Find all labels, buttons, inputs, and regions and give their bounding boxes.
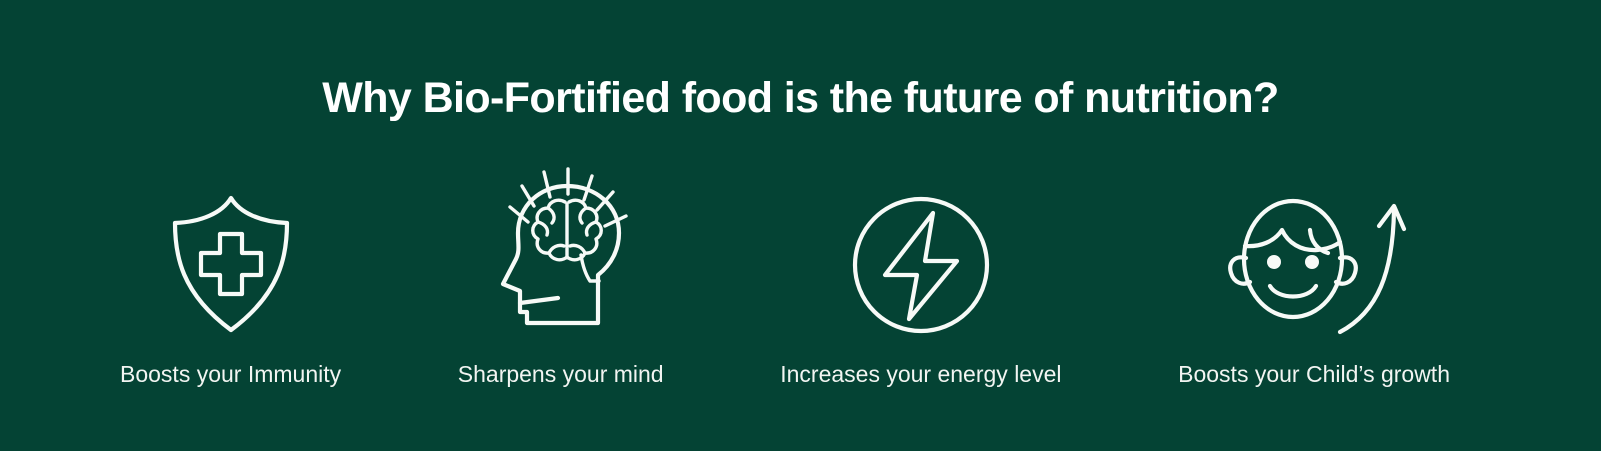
feature-label: Boosts your Immunity <box>120 360 341 388</box>
bio-fortified-benefits-banner: Why Bio-Fortified food is the future of … <box>0 0 1601 451</box>
feature-item-mind: Sharpens your mind <box>458 160 664 388</box>
feature-label: Boosts your Child’s growth <box>1178 360 1450 388</box>
feature-item-energy: Increases your energy level <box>780 160 1061 388</box>
feature-label: Sharpens your mind <box>458 360 664 388</box>
feature-item-child-growth: Boosts your Child’s growth <box>1178 160 1450 388</box>
lightning-bolt-circle-icon <box>851 160 991 335</box>
feature-list: Boosts your Immunity <box>120 160 1450 388</box>
page-title: Why Bio-Fortified food is the future of … <box>0 72 1601 124</box>
feature-label: Increases your energy level <box>780 360 1061 388</box>
shield-cross-icon <box>167 160 295 335</box>
head-brain-idea-icon <box>486 160 636 335</box>
feature-item-immunity: Boosts your Immunity <box>120 160 341 388</box>
child-face-growth-arrow-icon <box>1222 160 1407 335</box>
